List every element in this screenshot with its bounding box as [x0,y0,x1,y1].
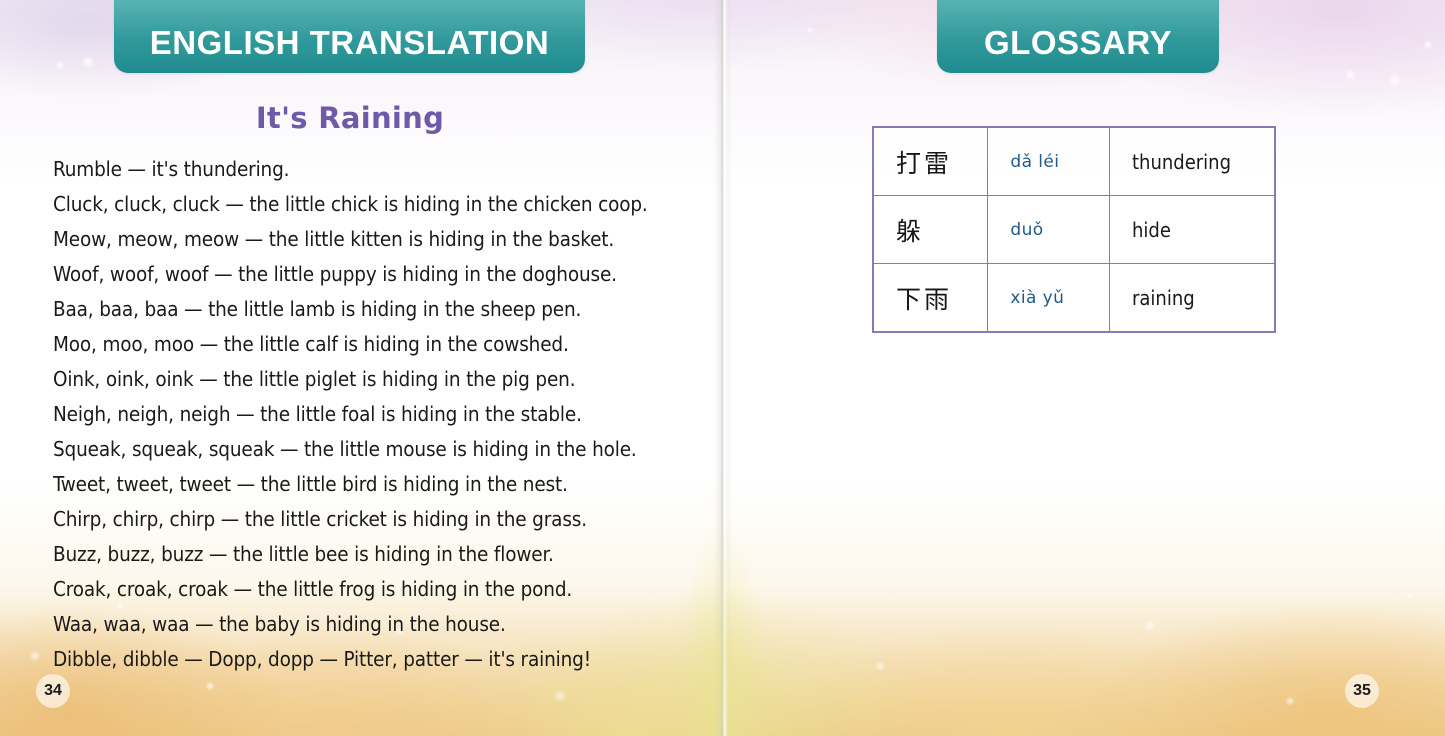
table-row: 下雨 xià yǔ raining [873,264,1275,333]
story-line: Oink, oink, oink — the little piglet is … [53,362,673,397]
story-line: Squeak, squeak, squeak — the little mous… [53,432,673,467]
story-line: Neigh, neigh, neigh — the little foal is… [53,397,673,432]
story-body: Rumble — it's thundering. Cluck, cluck, … [53,152,673,677]
table-row: 躲 duǒ hide [873,196,1275,264]
glossary-cell-hanzi: 打雷 [873,127,988,196]
glossary-table: 打雷 dǎ léi thundering 躲 duǒ hide [872,126,1276,333]
glossary-english: raining [1132,286,1195,310]
english-translation-banner: ENGLISH TRANSLATION [114,0,585,73]
glossary-hanzi: 打雷 [896,149,952,178]
story-line: Baa, baa, baa — the little lamb is hidin… [53,292,673,327]
story-line: Woof, woof, woof — the little puppy is h… [53,257,673,292]
story-line: Buzz, buzz, buzz — the little bee is hid… [53,537,673,572]
table-row: 打雷 dǎ léi thundering [873,127,1275,196]
story-line: Cluck, cluck, cluck — the little chick i… [53,187,673,222]
glossary-cell-hanzi: 躲 [873,196,988,264]
glossary-english: thundering [1132,150,1231,174]
story-line: Chirp, chirp, chirp — the little cricket… [53,502,673,537]
page-number-right: 35 [1345,674,1379,708]
glossary-pinyin: dǎ léi [1010,152,1059,172]
page-number-left: 34 [36,674,70,708]
glossary-cell-pinyin: xià yǔ [988,264,1110,333]
story-line: Meow, meow, meow — the little kitten is … [53,222,673,257]
book-spine-fold [714,0,732,736]
glossary-cell-pinyin: duǒ [988,196,1110,264]
glossary-banner: GLOSSARY [937,0,1219,73]
english-translation-banner-label: ENGLISH TRANSLATION [150,24,549,73]
story-title: It's Raining [0,101,700,135]
book-spread-page: ENGLISH TRANSLATION GLOSSARY It's Rainin… [0,0,1445,736]
glossary-cell-english: thundering [1110,127,1276,196]
book-spine-glow [662,430,782,736]
story-line: Dibble, dibble — Dopp, dopp — Pitter, pa… [53,642,673,677]
glossary-hanzi: 下雨 [896,285,952,314]
story-line: Croak, croak, croak — the little frog is… [53,572,673,607]
glossary-cell-english: hide [1110,196,1276,264]
glossary-pinyin: xià yǔ [1010,288,1064,308]
glossary-pinyin: duǒ [1010,220,1043,240]
story-line: Tweet, tweet, tweet — the little bird is… [53,467,673,502]
glossary-cell-hanzi: 下雨 [873,264,988,333]
glossary-banner-label: GLOSSARY [984,24,1172,73]
story-line: Moo, moo, moo — the little calf is hidin… [53,327,673,362]
story-line: Waa, waa, waa — the baby is hiding in th… [53,607,673,642]
story-line: Rumble — it's thundering. [53,152,673,187]
glossary-hanzi: 躲 [896,217,924,246]
glossary-cell-pinyin: dǎ léi [988,127,1110,196]
glossary-cell-english: raining [1110,264,1276,333]
glossary-english: hide [1132,218,1171,242]
